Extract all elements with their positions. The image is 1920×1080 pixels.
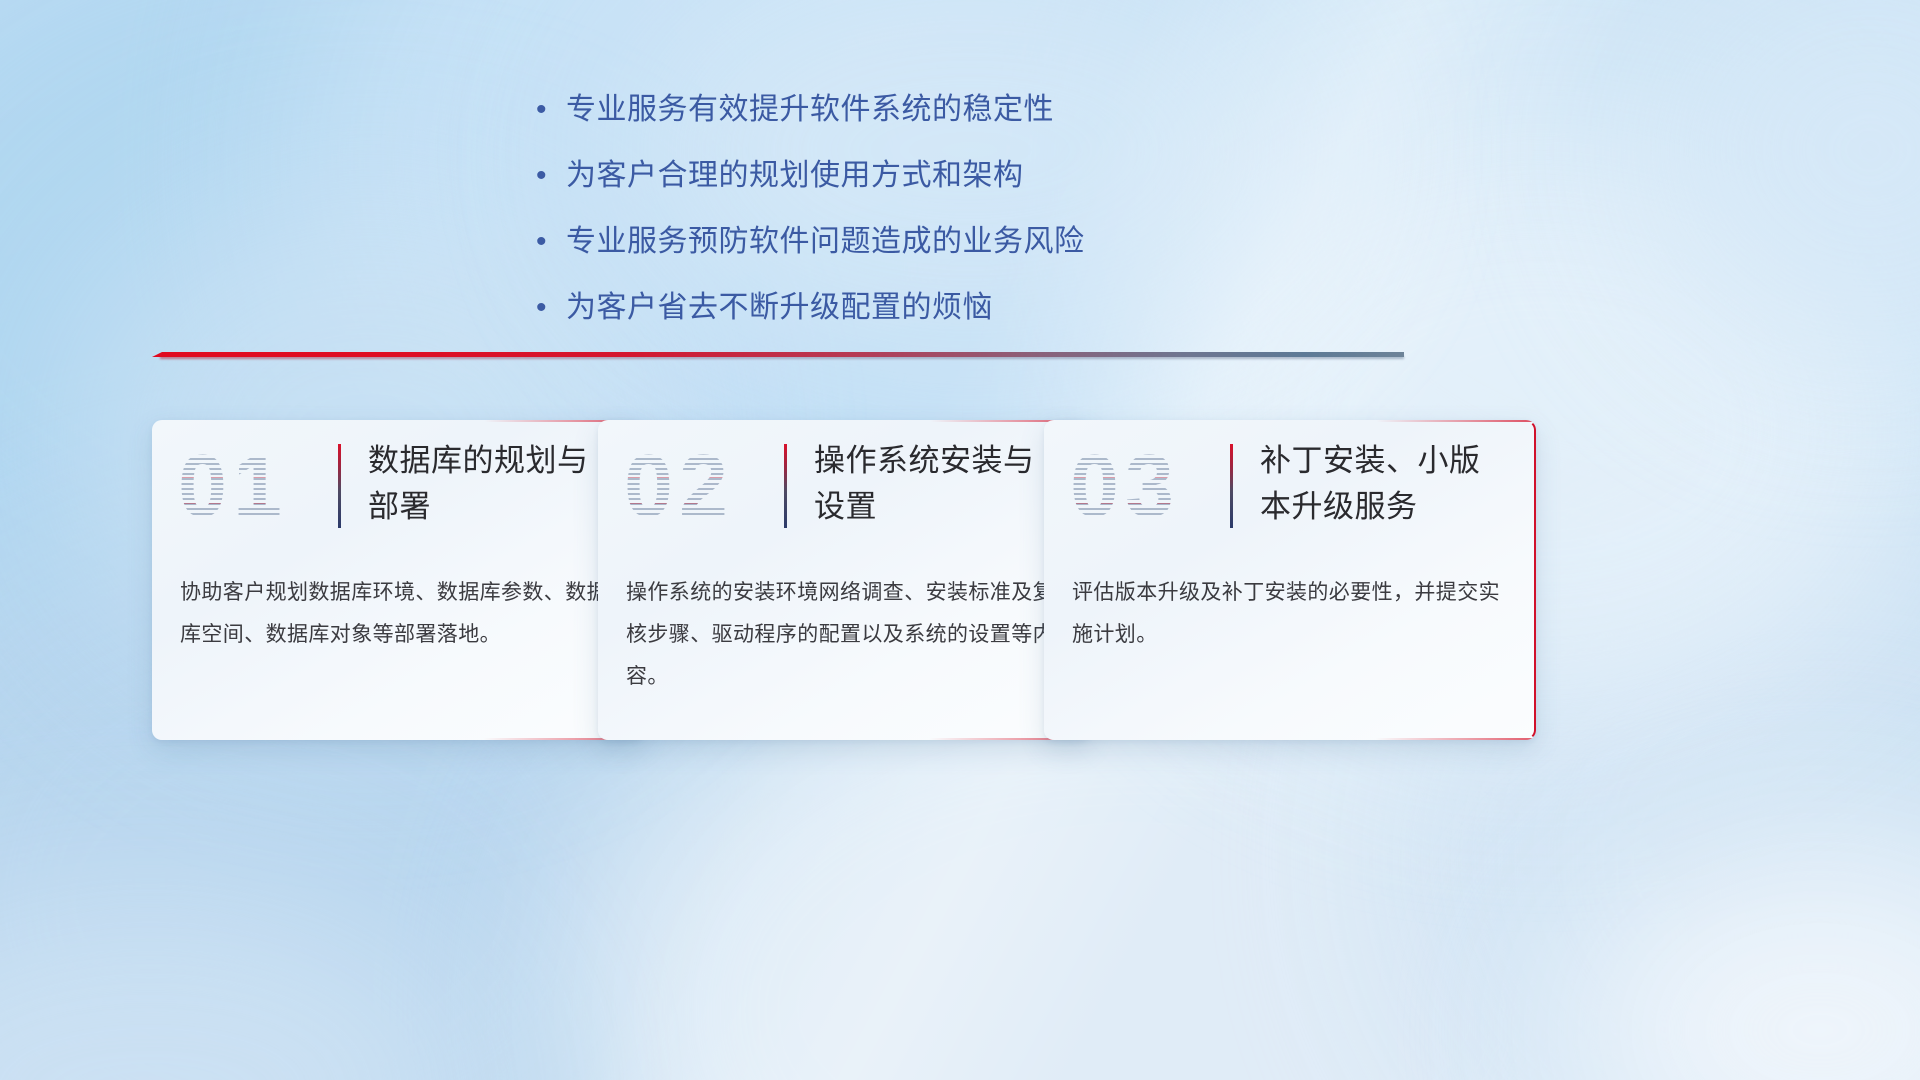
card-number-tint: 01 [178, 442, 288, 530]
card-title: 操作系统安装与设置 [814, 438, 1064, 530]
bullet-list-item: • 为客户省去不断升级配置的烦恼 [536, 286, 1085, 330]
section-divider [152, 348, 1404, 360]
card-title-rule [784, 444, 787, 528]
card-header: 01 01 数据库的规划与部署 [152, 420, 644, 552]
bullet-list-item: • 专业服务有效提升软件系统的稳定性 [536, 88, 1085, 132]
card-body-text: 评估版本升级及补丁安装的必要性，并提交实施计划。 [1072, 572, 1502, 656]
service-card[interactable]: 02 02 操作系统安装与设置 操作系统的安装环境网络调查、安装标准及复核步骤、… [598, 420, 1090, 740]
card-body-text: 操作系统的安装环境网络调查、安装标准及复核步骤、驱动程序的配置以及系统的设置等内… [626, 572, 1056, 698]
section-divider-bar [152, 352, 1404, 357]
card-accent-edge-bottom [1376, 738, 1536, 740]
card-header: 03 03 补丁安装、小版本升级服务 [1044, 420, 1536, 552]
bullet-list-item: • 专业服务预防软件问题造成的业务风险 [536, 220, 1085, 264]
bullet-list: • 专业服务有效提升软件系统的稳定性 • 为客户合理的规划使用方式和架构 • 专… [536, 88, 1085, 352]
bullet-list-item-text: 专业服务有效提升软件系统的稳定性 [566, 88, 1054, 132]
card-number-tint: 02 [624, 442, 734, 530]
service-card[interactable]: 01 01 数据库的规划与部署 协助客户规划数据库环境、数据库参数、数据库空间、… [152, 420, 644, 740]
service-card[interactable]: 03 03 补丁安装、小版本升级服务 评估版本升级及补丁安装的必要性，并提交实施… [1044, 420, 1536, 740]
bullet-marker-icon: • [536, 88, 566, 132]
bullet-marker-icon: • [536, 220, 566, 264]
card-title-rule [338, 444, 341, 528]
bullet-list-item: • 为客户合理的规划使用方式和架构 [536, 154, 1085, 198]
card-title: 数据库的规划与部署 [368, 438, 618, 530]
bullet-marker-icon: • [536, 154, 566, 198]
card-title-rule [1230, 444, 1233, 528]
card-title: 补丁安装、小版本升级服务 [1260, 438, 1510, 530]
card-number-tint: 03 [1070, 442, 1180, 530]
bullet-list-item-text: 专业服务预防软件问题造成的业务风险 [566, 220, 1085, 264]
bullet-marker-icon: • [536, 286, 566, 330]
bullet-list-item-text: 为客户合理的规划使用方式和架构 [566, 154, 1024, 198]
card-header: 02 02 操作系统安装与设置 [598, 420, 1090, 552]
bullet-list-item-text: 为客户省去不断升级配置的烦恼 [566, 286, 993, 330]
card-body-text: 协助客户规划数据库环境、数据库参数、数据库空间、数据库对象等部署落地。 [180, 572, 610, 656]
